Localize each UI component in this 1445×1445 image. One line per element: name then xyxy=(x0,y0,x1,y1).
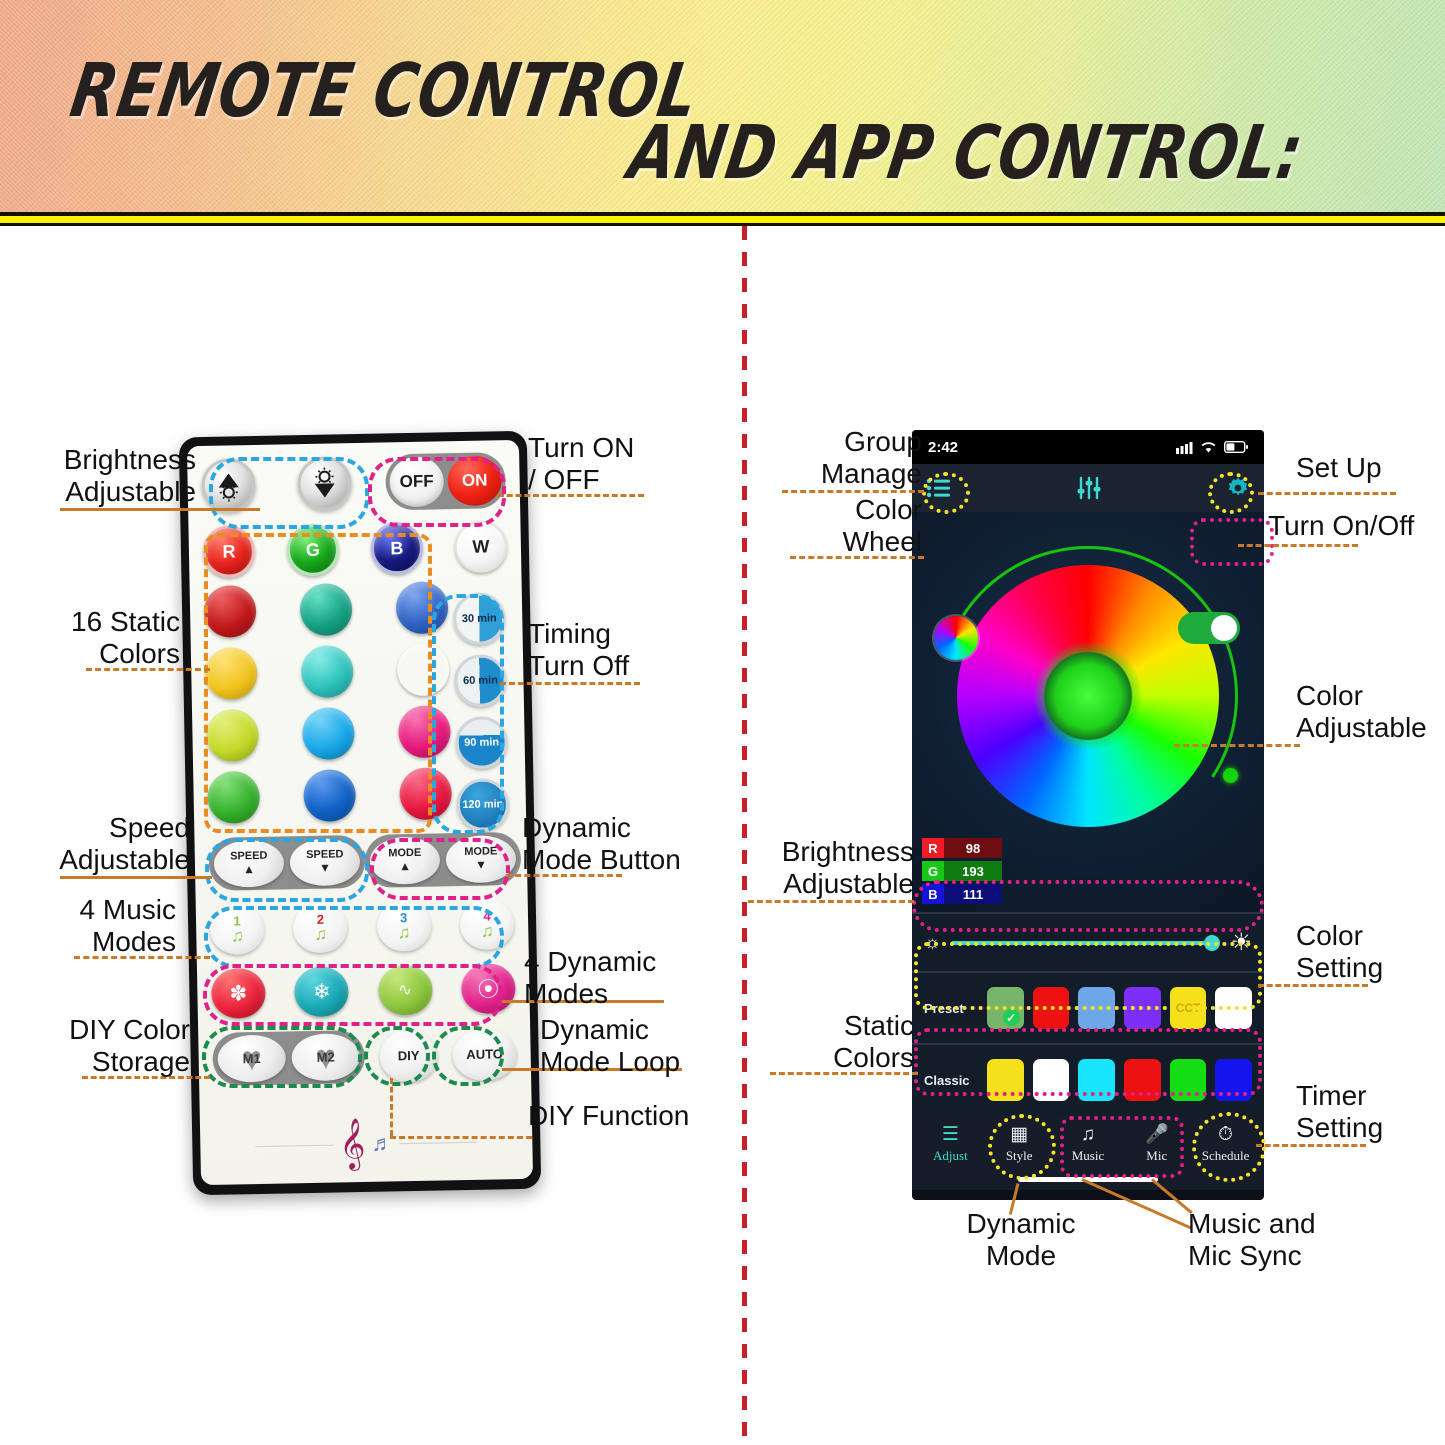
brightness-slider[interactable] xyxy=(951,941,1221,945)
bottom-nav: ☰ Adjust ▦ Style ♫ Music 🎤 Mic ⏱ Schedul… xyxy=(912,1115,1264,1168)
music-note-icon: ♫ xyxy=(397,924,410,941)
memory-diy-row: ♥ M1 ♥ M2 DIY AUTO xyxy=(212,1027,517,1086)
memory-button-m2[interactable]: ♥ M2 xyxy=(291,1033,360,1081)
rgb-row-green: G 193 xyxy=(922,861,1002,881)
annotation-speed-adjustable: Speed Adjustable xyxy=(0,812,190,876)
battery-icon xyxy=(1224,441,1248,453)
nav-item-schedule[interactable]: ⏱ Schedule xyxy=(1194,1123,1258,1164)
color-wheel-arc-knob[interactable] xyxy=(1223,768,1238,783)
static-color-swatch[interactable] xyxy=(301,645,354,698)
triangle-down-icon: ▼ xyxy=(319,862,331,875)
spiral-icon: ⦿ xyxy=(478,973,500,1003)
preset-swatch-green[interactable]: ✓ xyxy=(987,987,1024,1029)
memory-button-label: M1 xyxy=(243,1051,261,1066)
brightness-up-icon xyxy=(211,468,246,503)
leader-color-adjustable xyxy=(1174,744,1300,747)
wifi-icon xyxy=(1200,441,1217,454)
speed-up-button[interactable]: SPEED ▲ xyxy=(214,839,285,887)
rgb-value-green: 193 xyxy=(944,861,1002,881)
static-color-swatch[interactable] xyxy=(303,769,356,822)
leader-group-manage xyxy=(782,490,924,493)
leader-timer-setting xyxy=(1256,1144,1366,1147)
color-button-r[interactable]: R xyxy=(202,525,255,578)
color-wheel-arc-slider[interactable] xyxy=(912,518,1264,874)
dynamic-mode-button-strobe[interactable]: ❄ xyxy=(294,966,349,1017)
power-button-group: OFF ON xyxy=(385,452,506,510)
music-mode-button-1[interactable]: 1 ♫ xyxy=(210,904,265,955)
annotation-diy-color-storage: DIY Color Storage xyxy=(0,1014,190,1078)
treble-clef-icon: 𝄞 xyxy=(339,1122,366,1166)
static-color-swatch[interactable] xyxy=(399,767,452,820)
rgb-row-red: R 98 xyxy=(922,838,1002,858)
leader-diy-function xyxy=(390,1136,532,1139)
static-color-swatch[interactable] xyxy=(204,585,257,638)
classic-swatch-blue[interactable] xyxy=(1215,1059,1252,1101)
preset-row: Preset ✓ CCT xyxy=(924,987,1252,1029)
power-toggle-knob xyxy=(1211,615,1237,641)
nav-item-music[interactable]: ♫ Music xyxy=(1056,1123,1120,1164)
status-time: 2:42 xyxy=(928,439,958,456)
annotation-timing-turn-off: Timing Turn Off xyxy=(528,618,748,682)
color-wheel-picker-button[interactable] xyxy=(934,616,978,660)
music-note-icon: ♫ xyxy=(314,926,327,943)
timer-button-group: 30 min 60 min 90 min 120 min xyxy=(453,592,510,831)
preset-swatch-white[interactable] xyxy=(1215,987,1252,1029)
memory-button-group: ♥ M1 ♥ M2 xyxy=(212,1030,365,1086)
sliders-icon[interactable] xyxy=(1076,476,1102,500)
nav-label-adjust: Adjust xyxy=(933,1148,968,1164)
classic-panel: Classic xyxy=(912,1043,1264,1115)
home-indicator-area xyxy=(912,1168,1264,1190)
leader-set-up xyxy=(1258,492,1396,495)
dynamic-mode-button-fade[interactable]: ∿ xyxy=(378,965,433,1016)
list-icon[interactable] xyxy=(926,477,952,499)
speed-mode-row: SPEED ▲ SPEED ▼ MODE ▲ MODE ▼ xyxy=(208,832,513,891)
timer-button-90min[interactable]: 90 min xyxy=(455,716,508,769)
annotation-dynamic-mode: Dynamic Mode xyxy=(928,1208,1114,1272)
leader-brightness xyxy=(60,508,260,511)
annotation-4-music-modes: 4 Music Modes xyxy=(0,894,176,958)
mic-icon: 🎤 xyxy=(1145,1123,1169,1145)
annotation-4-dynamic-modes: 4 Dynamic Modes xyxy=(524,946,744,1010)
leader-speed xyxy=(60,876,212,879)
speed-down-button[interactable]: SPEED ▼ xyxy=(289,838,360,886)
preset-label: Preset xyxy=(924,1001,978,1016)
annotation-dynamic-mode-loop: Dynamic Mode Loop xyxy=(540,1014,770,1078)
rgb-value-blue: 111 xyxy=(944,884,1002,904)
annotation-color-wheel: Color Wheel xyxy=(770,494,922,558)
rgb-row-blue: B 111 xyxy=(922,884,1002,904)
dynamic-mode-button-smooth[interactable]: ⦿ xyxy=(461,963,516,1014)
music-mode-button-3[interactable]: 3 ♫ xyxy=(376,901,431,952)
color-button-w[interactable]: W xyxy=(454,520,507,573)
music-note-icon: ♫ xyxy=(231,927,244,944)
brightness-slider-thumb[interactable] xyxy=(1204,935,1220,951)
check-icon: ✓ xyxy=(1003,1009,1020,1026)
burst-icon: ✽ xyxy=(229,981,247,1006)
color-button-g[interactable]: G xyxy=(286,523,339,576)
preset-swatch-purple[interactable] xyxy=(1124,987,1161,1029)
annotation-music-mic-sync: Music and Mic Sync xyxy=(1188,1208,1418,1272)
grid-icon: ▦ xyxy=(1010,1123,1028,1145)
leader-diy-function-vertical xyxy=(390,1078,393,1136)
annotation-color-setting: Color Setting xyxy=(1296,920,1445,984)
nav-label-schedule: Schedule xyxy=(1202,1148,1250,1164)
nav-item-adjust[interactable]: ☰ Adjust xyxy=(918,1123,982,1164)
banner-title-line-2: AND APP CONTROL: xyxy=(623,110,1309,196)
brightness-slider-row: ☼ ☀ xyxy=(924,928,1252,957)
static-color-swatch[interactable] xyxy=(302,707,355,760)
clock-icon: ⏱ xyxy=(1218,1123,1233,1145)
rgb-key-green: G xyxy=(922,861,944,881)
triangle-up-icon: ▲ xyxy=(243,863,255,876)
static-color-swatch[interactable] xyxy=(206,709,259,762)
color-button-label: R xyxy=(222,541,235,562)
brightness-up-button[interactable] xyxy=(201,458,256,513)
static-color-swatch[interactable] xyxy=(398,705,451,758)
music-note-icon: ♫ xyxy=(481,922,494,939)
annotation-diy-function: DIY Function xyxy=(528,1100,758,1132)
dynamic-mode-button-flash[interactable]: ✽ xyxy=(211,968,266,1019)
status-icons xyxy=(1176,441,1248,454)
diy-button[interactable]: DIY xyxy=(379,1029,438,1082)
phone-app: 2:42 xyxy=(912,430,1264,1200)
nav-label-mic: Mic xyxy=(1146,1148,1167,1164)
on-button[interactable]: ON xyxy=(447,455,502,506)
annotation-brightness-adjustable: Brightness Adjustable xyxy=(0,444,196,508)
brightness-panel: ☼ ☀ xyxy=(912,912,1264,971)
wave-icon: ∿ xyxy=(398,980,413,1000)
rgb-key-blue: B xyxy=(922,884,944,904)
color-button-b[interactable]: B xyxy=(370,522,423,575)
classic-row: Classic xyxy=(924,1059,1252,1101)
leader-app-turn-on-off xyxy=(1238,544,1358,547)
timer-button-30min[interactable]: 30 min xyxy=(453,592,506,645)
annotation-16-static-colors: 16 Static Colors xyxy=(0,606,180,670)
sliders-icon: ☰ xyxy=(942,1123,959,1145)
color-button-label: B xyxy=(390,538,403,559)
memory-button-label: M2 xyxy=(317,1050,335,1065)
timer-button-60min[interactable]: 60 min xyxy=(454,654,507,707)
leader-color-setting xyxy=(1258,984,1368,987)
annotation-color-adjustable: Color Adjustable xyxy=(1296,680,1445,744)
annotation-app-brightness: Brightness Adjustable xyxy=(748,836,914,900)
brightness-high-icon: ☀ xyxy=(1230,928,1252,957)
preset-panel: Preset ✓ CCT xyxy=(912,971,1264,1043)
banner-title-line-1: REMOTE CONTROL xyxy=(65,48,704,134)
classic-swatch-yellow[interactable] xyxy=(987,1059,1024,1101)
rgb-key-red: R xyxy=(922,838,944,858)
nav-label-music: Music xyxy=(1072,1148,1105,1164)
color-button-label: W xyxy=(472,536,489,557)
mode-button-group: MODE ▲ MODE ▼ xyxy=(364,832,521,888)
annotation-timer-setting: Timer Setting xyxy=(1296,1080,1445,1144)
nav-item-mic[interactable]: 🎤 Mic xyxy=(1125,1123,1189,1164)
music-note-icon: ♫ xyxy=(1081,1123,1095,1145)
remote-footer-decor: 𝄞 ♬ xyxy=(200,1119,533,1169)
auto-button[interactable]: AUTO xyxy=(452,1028,517,1081)
classic-label: Classic xyxy=(924,1073,978,1088)
off-button[interactable]: OFF xyxy=(389,456,444,507)
triangle-down-icon: ▼ xyxy=(475,859,487,872)
mode-up-button[interactable]: MODE ▲ xyxy=(369,836,440,884)
leader-app-brightness xyxy=(748,900,914,903)
annotation-group-manage: Group Manage xyxy=(770,426,922,490)
color-button-label: G xyxy=(306,539,320,560)
annotation-set-up: Set Up xyxy=(1296,452,1445,484)
banner-underline xyxy=(0,212,1445,226)
preset-swatch-cct[interactable]: CCT xyxy=(1170,987,1207,1029)
leader-timing xyxy=(500,682,640,685)
preset-swatch-red[interactable] xyxy=(1033,987,1070,1029)
rgb-value-red: 98 xyxy=(944,838,1002,858)
annotation-app-static-colors: Static Colors xyxy=(760,1010,914,1074)
cct-label: CCT xyxy=(1176,1001,1201,1015)
brightness-down-icon xyxy=(307,466,342,501)
remote-control: OFF ON R G B W xyxy=(179,431,541,1196)
brightness-down-button[interactable] xyxy=(297,456,352,511)
music-mode-button-4[interactable]: 4 ♫ xyxy=(460,899,515,950)
brightness-low-icon: ☼ xyxy=(924,932,941,953)
snowflake-icon: ❄ xyxy=(313,979,331,1004)
speed-button-group: SPEED ▲ SPEED ▼ xyxy=(208,835,365,891)
classic-swatch-cyan[interactable] xyxy=(1078,1059,1115,1101)
preset-swatch-lightblue[interactable] xyxy=(1078,987,1115,1029)
classic-swatch-red[interactable] xyxy=(1124,1059,1161,1101)
annotation-app-turn-on-off: Turn On/Off xyxy=(1268,510,1445,542)
memory-button-m1[interactable]: ♥ M1 xyxy=(217,1034,286,1082)
static-color-swatch[interactable] xyxy=(397,643,450,696)
classic-swatch-white[interactable] xyxy=(1033,1059,1070,1101)
triangle-up-icon: ▲ xyxy=(399,860,411,873)
nav-label-style: Style xyxy=(1006,1148,1033,1164)
power-toggle[interactable] xyxy=(1178,612,1240,644)
annotation-dynamic-mode-button: Dynamic Mode Button xyxy=(522,812,752,876)
classic-swatch-green[interactable] xyxy=(1170,1059,1207,1101)
static-color-swatch[interactable] xyxy=(300,583,353,636)
status-bar: 2:42 xyxy=(912,430,1264,464)
static-color-swatch[interactable] xyxy=(396,581,449,634)
remote-top-row: OFF ON xyxy=(201,452,506,514)
signal-icon xyxy=(1176,441,1193,454)
timer-button-120min[interactable]: 120 min xyxy=(456,778,509,831)
static-color-swatch[interactable] xyxy=(205,647,258,700)
dynamic-mode-row: ✽ ❄ ∿ ⦿ xyxy=(211,963,516,1019)
gear-icon[interactable] xyxy=(1226,476,1250,500)
annotation-turn-on-off: Turn ON / OFF xyxy=(528,432,748,496)
music-mode-button-2[interactable]: 2 ♫ xyxy=(293,902,348,953)
remote-face: OFF ON R G B W xyxy=(187,440,533,1185)
nav-item-style[interactable]: ▦ Style xyxy=(987,1123,1051,1164)
app-bar xyxy=(912,464,1264,512)
color-wheel-area: R 98 G 193 B 111 xyxy=(912,512,1264,912)
rgbw-row: R G B W xyxy=(202,520,507,578)
music-mode-row: 1 ♫ 2 ♫ 3 ♫ 4 ♫ xyxy=(210,899,515,955)
rgb-readout: R 98 G 193 B 111 xyxy=(922,838,1002,904)
static-color-swatch[interactable] xyxy=(207,771,260,824)
